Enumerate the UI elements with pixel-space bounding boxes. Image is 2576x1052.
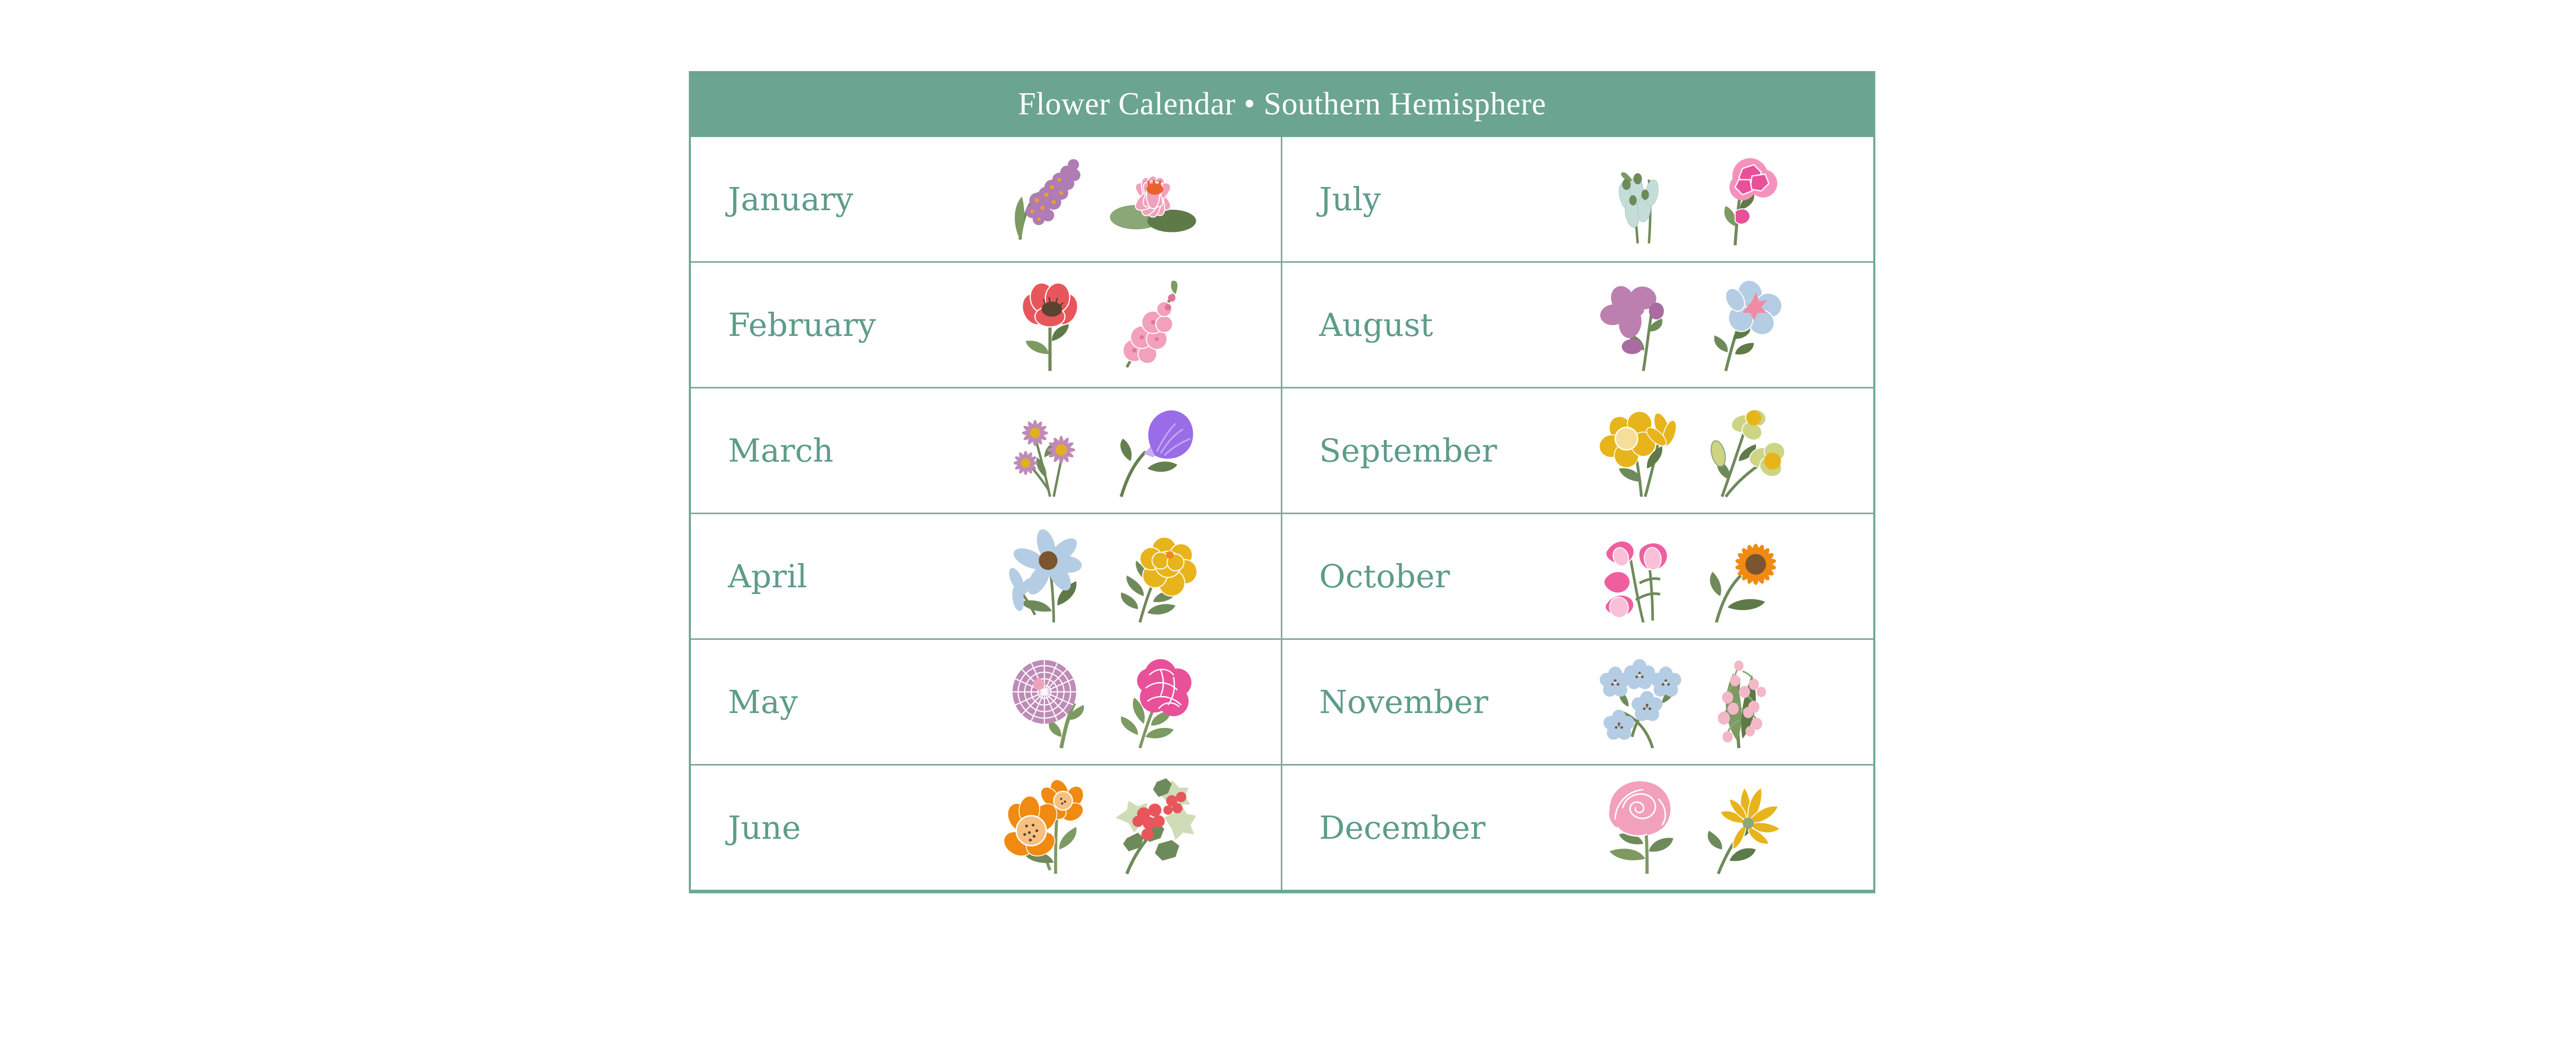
flower-illustration-pair (996, 766, 1281, 890)
month-label: May (691, 686, 996, 718)
flower-illustration-pair (1587, 137, 1874, 261)
holly-berries-icon (1104, 776, 1202, 879)
flower-illustration-pair (1587, 766, 1874, 890)
lilac-sprig-icon (1001, 148, 1099, 251)
peony-icon (1104, 651, 1202, 754)
month-label: September (1282, 435, 1587, 467)
month-label: October (1282, 561, 1587, 592)
flower-illustration-pair (996, 640, 1281, 764)
month-cell-november[interactable]: November (1282, 640, 1874, 764)
rose-icon (1592, 776, 1690, 879)
anemone-poppy-icon (1001, 274, 1099, 377)
month-label: February (691, 309, 996, 341)
water-lily-icon (1104, 148, 1202, 251)
lily-of-the-valley-icon (1696, 651, 1793, 754)
sweet-pea-icon (1592, 525, 1690, 628)
flower-illustration-pair (996, 263, 1281, 387)
daffodil-icon (1592, 399, 1690, 502)
calendar-title: Flower Calendar • Southern Hemisphere (1018, 88, 1546, 120)
orange-narcissus-icon (1001, 776, 1099, 879)
month-cell-december[interactable]: December (1282, 766, 1874, 890)
flower-illustration-pair (996, 388, 1281, 513)
morning-glory-icon (1104, 399, 1202, 502)
flower-calendar-table: Flower Calendar • Southern Hemisphere Ja… (689, 71, 1875, 893)
flower-illustration-pair (1587, 640, 1874, 764)
marigold-icon (1104, 525, 1202, 628)
carnation-icon (1696, 148, 1793, 251)
violet-icon (1592, 274, 1690, 377)
month-cell-may[interactable]: May (691, 640, 1282, 764)
aster-icon (1001, 399, 1099, 502)
calendula-icon (1696, 525, 1793, 628)
month-label: January (691, 183, 996, 215)
month-label: August (1282, 309, 1587, 341)
month-cell-october[interactable]: October (1282, 514, 1874, 638)
honeysuckle-icon (1696, 776, 1793, 879)
forget-me-not-icon (1592, 651, 1690, 754)
month-label: March (691, 435, 996, 467)
table-row: February (691, 261, 1873, 387)
hibiscus-icon (1696, 274, 1793, 377)
month-cell-september[interactable]: September (1282, 388, 1874, 513)
blue-daisy-icon (1001, 525, 1099, 628)
table-row: January (691, 137, 1873, 261)
month-label: December (1282, 812, 1587, 844)
flower-illustration-pair (996, 514, 1281, 638)
table-row: April (691, 513, 1873, 638)
month-cell-april[interactable]: April (691, 514, 1282, 638)
table-row: May (691, 638, 1873, 764)
dahlia-icon (1001, 651, 1099, 754)
jonquil-icon (1696, 399, 1793, 502)
month-label: April (691, 561, 996, 592)
snowdrop-icon (1592, 148, 1690, 251)
month-cell-february[interactable]: February (691, 263, 1282, 387)
month-cell-march[interactable]: March (691, 388, 1282, 513)
month-label: July (1282, 183, 1587, 215)
table-row: June (691, 764, 1873, 890)
month-label: June (691, 812, 996, 844)
calendar-header: Flower Calendar • Southern Hemisphere (691, 71, 1873, 137)
gladiolus-icon (1104, 274, 1202, 377)
page-canvas: Flower Calendar • Southern Hemisphere Ja… (0, 0, 2576, 1052)
month-label: November (1282, 686, 1587, 718)
month-cell-august[interactable]: August (1282, 263, 1874, 387)
month-cell-january[interactable]: January (691, 137, 1282, 261)
month-cell-july[interactable]: July (1282, 137, 1874, 261)
flower-illustration-pair (1587, 388, 1874, 513)
flower-illustration-pair (1587, 514, 1874, 638)
table-row: March (691, 387, 1873, 513)
flower-illustration-pair (1587, 263, 1874, 387)
calendar-body: January (691, 137, 1873, 890)
flower-illustration-pair (996, 137, 1281, 261)
month-cell-june[interactable]: June (691, 766, 1282, 890)
